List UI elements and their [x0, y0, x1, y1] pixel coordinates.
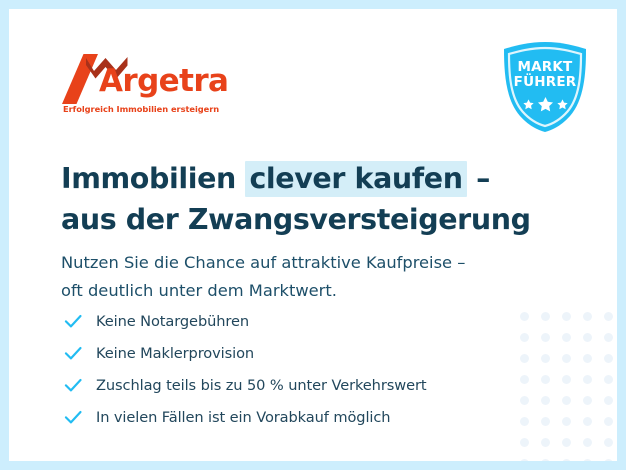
dot-grid-decoration [520, 312, 617, 460]
dot [541, 438, 550, 447]
dot [583, 417, 592, 426]
dot [604, 354, 613, 363]
list-item-label: Keine Notargebühren [96, 313, 249, 330]
dot [541, 459, 550, 461]
dot [583, 459, 592, 461]
dot [604, 459, 613, 461]
dot [604, 375, 613, 384]
check-icon [63, 311, 83, 331]
banner-card: Argetra Erfolgreich Immobilien ersteiger… [9, 9, 617, 461]
dot [541, 312, 550, 321]
subheadline-line-1: Nutzen Sie die Chance auf attraktive Kau… [61, 253, 465, 272]
dot [520, 459, 529, 461]
check-icon [63, 343, 83, 363]
dot [583, 312, 592, 321]
argetra-logo[interactable]: Argetra Erfolgreich Immobilien ersteiger… [61, 53, 221, 119]
headline-part-2: – [467, 162, 490, 195]
dot [541, 333, 550, 342]
subheadline: Nutzen Sie die Chance auf attraktive Kau… [61, 249, 561, 305]
check-icon [63, 407, 83, 427]
logo-wordmark: Argetra [99, 62, 228, 100]
dot [583, 396, 592, 405]
dot [541, 417, 550, 426]
check-icon [63, 375, 83, 395]
dot [541, 354, 550, 363]
logo-tagline: Erfolgreich Immobilien ersteigern [63, 104, 219, 114]
list-item: In vielen Fällen ist ein Vorabkauf mögli… [63, 402, 533, 432]
page-title: Immobilien clever kaufen –aus der Zwangs… [61, 160, 541, 239]
headline-line-2: aus der Zwangsversteigerung [61, 201, 541, 239]
list-item-label: Zuschlag teils bis zu 50 % unter Verkehr… [96, 377, 426, 394]
dot [562, 375, 571, 384]
dot [562, 459, 571, 461]
dot [562, 333, 571, 342]
dot [583, 375, 592, 384]
list-item-label: Keine Maklerprovision [96, 345, 254, 362]
dot [583, 438, 592, 447]
list-item: Keine Maklerprovision [63, 338, 533, 368]
list-item: Keine Notargebühren [63, 306, 533, 336]
dot [541, 396, 550, 405]
headline-part-1: Immobilien [61, 162, 245, 195]
dot [604, 438, 613, 447]
list-item: Zuschlag teils bis zu 50 % unter Verkehr… [63, 370, 533, 400]
market-leader-badge: MARKT FÜHRER [500, 40, 590, 134]
headline-highlight: clever kaufen [245, 161, 466, 197]
dot [604, 417, 613, 426]
promo-banner: Argetra Erfolgreich Immobilien ersteiger… [0, 0, 626, 470]
dot [562, 312, 571, 321]
dot [562, 354, 571, 363]
shield-icon [500, 40, 590, 134]
dot [604, 333, 613, 342]
dot [583, 333, 592, 342]
dot [604, 312, 613, 321]
dot [562, 396, 571, 405]
dot [562, 417, 571, 426]
dot [541, 375, 550, 384]
dot [604, 396, 613, 405]
subheadline-line-2: oft deutlich unter dem Marktwert. [61, 277, 561, 305]
dot [562, 438, 571, 447]
dot [583, 354, 592, 363]
list-item-label: In vielen Fällen ist ein Vorabkauf mögli… [96, 409, 390, 426]
benefit-list: Keine Notargebühren Keine Maklerprovisio… [63, 306, 533, 434]
dot [520, 438, 529, 447]
